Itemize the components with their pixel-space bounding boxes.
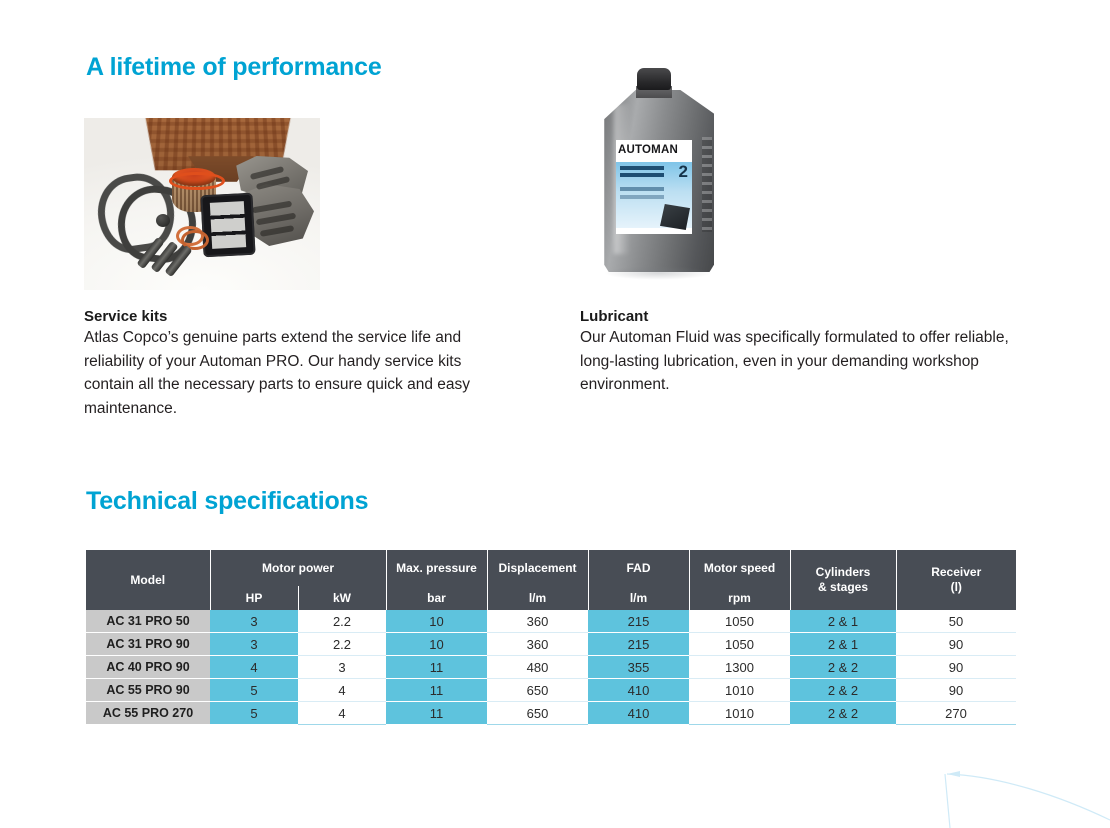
- cell-motor-speed: 1050: [689, 633, 790, 656]
- col-header-receiver-line2: (l): [951, 580, 962, 594]
- cell-motor-speed: 1010: [689, 679, 790, 702]
- cell-receiver: 90: [896, 656, 1016, 679]
- cell-bar: 11: [386, 656, 487, 679]
- cell-displacement: 360: [487, 610, 588, 633]
- table-row: AC 40 PRO 90 4 3 11 480 355 1300 2 & 2 9…: [86, 656, 1016, 679]
- bottle-shadow-graphic: [604, 266, 712, 280]
- table-header-row-groups: Model Motor power Max. pressure Displace…: [86, 550, 1016, 586]
- bottle-label-product-image: [660, 204, 690, 230]
- col-header-displacement: Displacement: [487, 550, 588, 586]
- unit-header-kw: kW: [298, 586, 386, 610]
- unit-header-rpm: rpm: [689, 586, 790, 610]
- product-block-lubricant: AUTOMAN 2 Lubricant Our Automan Fluid wa…: [580, 60, 1020, 397]
- cell-model: AC 40 PRO 90: [86, 656, 210, 679]
- technical-specifications-table: Model Motor power Max. pressure Displace…: [86, 550, 1016, 725]
- cell-hp: 3: [210, 633, 298, 656]
- unit-header-fad-lm: l/m: [588, 586, 689, 610]
- table-row: AC 55 PRO 270 5 4 11 650 410 1010 2 & 2 …: [86, 702, 1016, 725]
- col-header-motor-speed: Motor speed: [689, 550, 790, 586]
- unit-header-displacement-lm: l/m: [487, 586, 588, 610]
- cell-model: AC 31 PRO 90: [86, 633, 210, 656]
- cell-motor-speed: 1010: [689, 702, 790, 725]
- cell-motor-speed: 1300: [689, 656, 790, 679]
- col-header-model: Model: [86, 550, 210, 610]
- bottle-cap-graphic: [637, 68, 671, 90]
- product-block-service-kits: Service kits Atlas Copco’s genuine parts…: [84, 118, 524, 420]
- cell-bar: 10: [386, 610, 487, 633]
- cell-model: AC 55 PRO 90: [86, 679, 210, 702]
- cell-cylinders: 2 & 2: [790, 702, 896, 725]
- unit-header-hp: HP: [210, 586, 298, 610]
- cell-receiver: 90: [896, 633, 1016, 656]
- cell-kw: 2.2: [298, 610, 386, 633]
- section-heading-lifetime: A lifetime of performance: [86, 53, 382, 82]
- cell-motor-speed: 1050: [689, 610, 790, 633]
- cell-receiver: 50: [896, 610, 1016, 633]
- cell-fad: 215: [588, 610, 689, 633]
- col-header-cylinders-line2: & stages: [818, 580, 868, 594]
- cell-kw: 3: [298, 656, 386, 679]
- cell-kw: 4: [298, 679, 386, 702]
- valve-plate-graphic: [200, 193, 255, 258]
- black-cap-graphic: [156, 214, 170, 227]
- table-row: AC 31 PRO 50 3 2.2 10 360 215 1050 2 & 1…: [86, 610, 1016, 633]
- cell-fad: 215: [588, 633, 689, 656]
- bottle-label-text-lines: [620, 166, 664, 170]
- section-heading-technical-specifications: Technical specifications: [86, 487, 368, 516]
- cell-kw: 4: [298, 702, 386, 725]
- col-header-receiver-line1: Receiver: [931, 565, 981, 579]
- col-header-fad: FAD: [588, 550, 689, 586]
- cell-cylinders: 2 & 1: [790, 610, 896, 633]
- cell-cylinders: 2 & 1: [790, 633, 896, 656]
- table-header: Model Motor power Max. pressure Displace…: [86, 550, 1016, 610]
- service-kit-photo: [84, 118, 320, 290]
- cell-hp: 5: [210, 702, 298, 725]
- bottle-label-brand: AUTOMAN: [618, 144, 690, 156]
- col-header-cylinders-line1: Cylinders: [816, 565, 871, 579]
- bottle-label-volume: 2: [679, 162, 688, 182]
- cell-hp: 5: [210, 679, 298, 702]
- cell-bar: 11: [386, 702, 487, 725]
- cell-bar: 10: [386, 633, 487, 656]
- cell-displacement: 480: [487, 656, 588, 679]
- cell-receiver: 90: [896, 679, 1016, 702]
- product-title-lubricant: Lubricant: [580, 308, 1020, 325]
- air-filter-rim-graphic: [169, 172, 225, 190]
- table-row: AC 31 PRO 90 3 2.2 10 360 215 1050 2 & 1…: [86, 633, 1016, 656]
- cell-displacement: 650: [487, 679, 588, 702]
- col-header-receiver: Receiver (l): [896, 550, 1016, 610]
- product-title-service-kits: Service kits: [84, 308, 524, 325]
- cell-displacement: 650: [487, 702, 588, 725]
- table-body: AC 31 PRO 50 3 2.2 10 360 215 1050 2 & 1…: [86, 610, 1016, 725]
- cell-hp: 4: [210, 656, 298, 679]
- cell-kw: 2.2: [298, 633, 386, 656]
- cell-model: AC 55 PRO 270: [86, 702, 210, 725]
- col-header-cylinders-stages: Cylinders & stages: [790, 550, 896, 610]
- col-header-motor-power: Motor power: [210, 550, 386, 586]
- table-row: AC 55 PRO 90 5 4 11 650 410 1010 2 & 2 9…: [86, 679, 1016, 702]
- page-canvas: A lifetime of performance S: [0, 0, 1110, 828]
- cell-displacement: 360: [487, 633, 588, 656]
- cell-fad: 410: [588, 702, 689, 725]
- product-description-service-kits: Atlas Copco’s genuine parts extend the s…: [84, 326, 514, 420]
- cell-fad: 355: [588, 656, 689, 679]
- unit-header-bar: bar: [386, 586, 487, 610]
- cell-model: AC 31 PRO 50: [86, 610, 210, 633]
- lubricant-bottle-photo: AUTOMAN 2: [580, 60, 750, 290]
- cell-cylinders: 2 & 2: [790, 679, 896, 702]
- cell-receiver: 270: [896, 702, 1016, 725]
- decorative-swoosh-icon: [920, 758, 1110, 828]
- cell-cylinders: 2 & 2: [790, 656, 896, 679]
- cell-fad: 410: [588, 679, 689, 702]
- cell-bar: 11: [386, 679, 487, 702]
- bottle-label-graphic: AUTOMAN 2: [616, 140, 692, 234]
- product-description-lubricant: Our Automan Fluid was specifically formu…: [580, 326, 1010, 397]
- cell-hp: 3: [210, 610, 298, 633]
- col-header-max-pressure: Max. pressure: [386, 550, 487, 586]
